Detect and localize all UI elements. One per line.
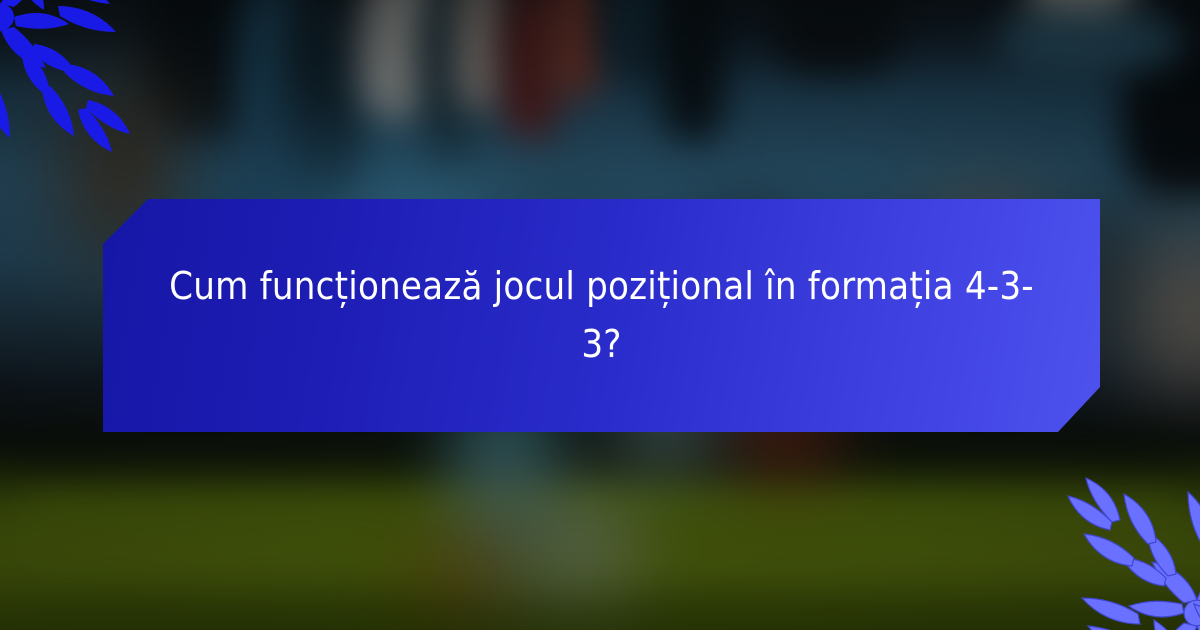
title-banner: Cum funcționează jocul pozițional în for… (103, 199, 1100, 432)
banner-card: Cum funcționează jocul pozițional în for… (0, 0, 1200, 630)
page-title: Cum funcționează jocul pozițional în for… (163, 258, 1040, 374)
